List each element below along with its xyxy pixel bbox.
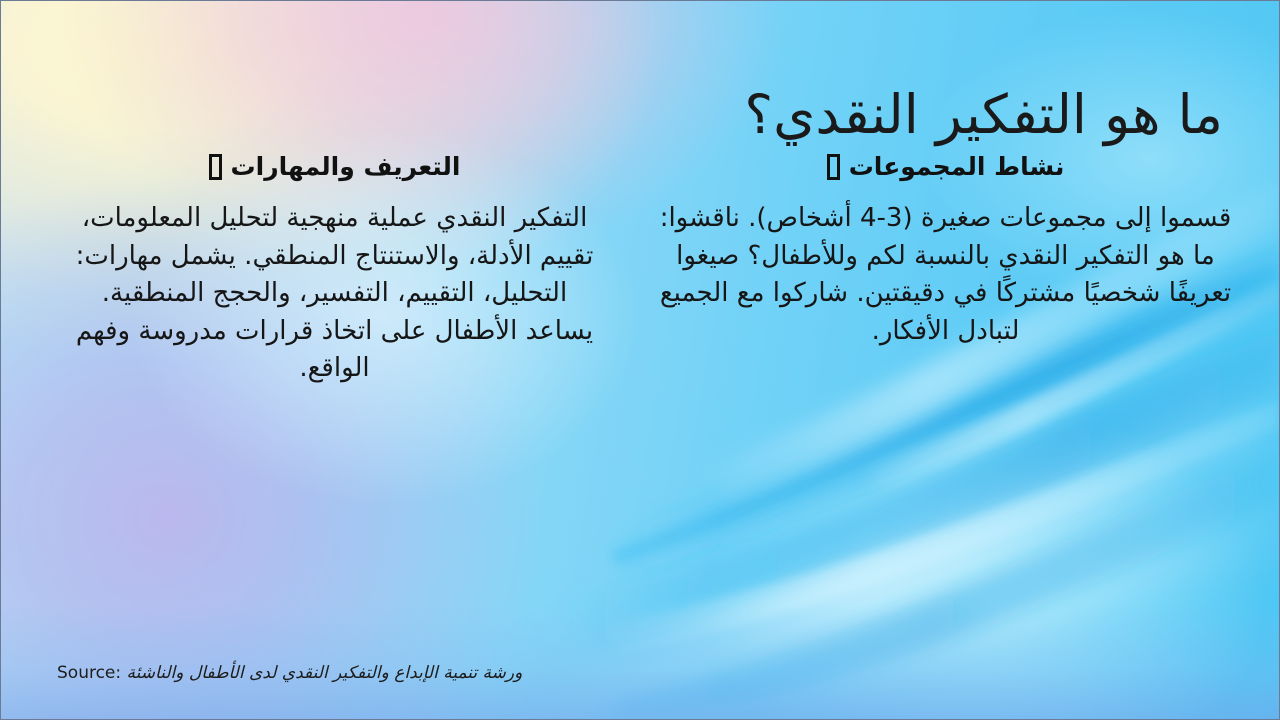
slide-title: ما هو التفكير النقدي؟: [57, 85, 1223, 144]
tofu-box-icon: [209, 154, 222, 180]
column-group-activity: نشاط المجموعات قسموا إلى مجموعات صغيرة (…: [652, 151, 1239, 387]
column-heading-label: نشاط المجموعات: [849, 151, 1065, 182]
source-footer: Source: ورشة تنمية الإبداع والتفكير النق…: [57, 663, 522, 683]
tofu-box-icon: [827, 154, 840, 180]
source-label: Source:: [57, 663, 121, 683]
column-heading-label: التعريف والمهارات: [231, 151, 461, 182]
column-body-definition-and-skills: التفكير النقدي عملية منهجية لتحليل المعل…: [41, 200, 628, 387]
column-heading-group-activity: نشاط المجموعات: [652, 151, 1239, 182]
column-body-group-activity: قسموا إلى مجموعات صغيرة (3-4 أشخاص). ناق…: [652, 200, 1239, 350]
content-columns: التعريف والمهارات التفكير النقدي عملية م…: [41, 151, 1239, 387]
column-definition-and-skills: التعريف والمهارات التفكير النقدي عملية م…: [41, 151, 628, 387]
presentation-slide: ما هو التفكير النقدي؟ التعريف والمهارات …: [0, 0, 1280, 720]
slide-content: ما هو التفكير النقدي؟ التعريف والمهارات …: [1, 1, 1279, 719]
source-reference: ورشة تنمية الإبداع والتفكير النقدي لدى ا…: [127, 663, 523, 683]
column-heading-definition-and-skills: التعريف والمهارات: [41, 151, 628, 182]
